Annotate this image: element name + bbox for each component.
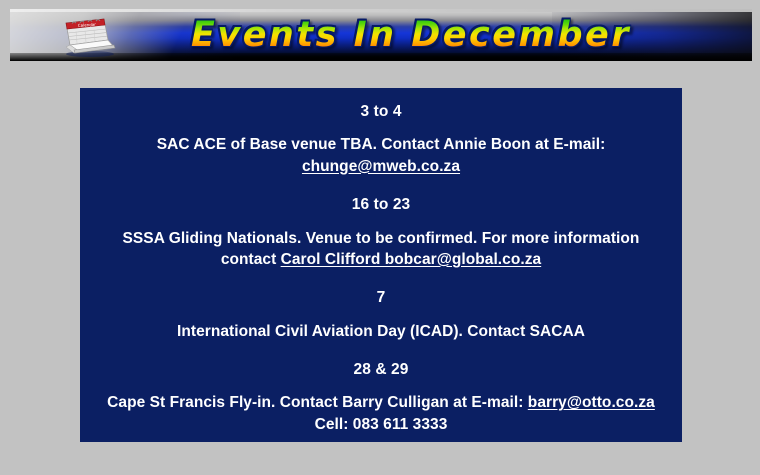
email-link-chunge[interactable]: chunge@mweb.co.za: [302, 158, 460, 175]
event-text: Cape St Francis Fly-in. Contact Barry Cu…: [107, 394, 528, 411]
event-date: 16 to 23: [98, 195, 664, 214]
events-panel: 3 to 4 SAC ACE of Base venue TBA. Contac…: [80, 88, 682, 442]
banner-background: Calendar: [10, 9, 752, 61]
event-description: International Civil Aviation Day (ICAD).…: [98, 321, 664, 342]
event-date: 28 & 29: [98, 360, 664, 379]
event-description: Cape St Francis Fly-in. Contact Barry Cu…: [98, 392, 664, 435]
email-link-barry[interactable]: barry@otto.co.za: [528, 394, 655, 411]
banner-top-highlight: [10, 9, 752, 12]
event-date: 3 to 4: [98, 102, 664, 121]
event-item: 16 to 23 SSSA Gliding Nationals. Venue t…: [98, 195, 664, 270]
event-description: SAC ACE of Base venue TBA. Contact Annie…: [98, 134, 664, 177]
event-item: 28 & 29 Cape St Francis Fly-in. Contact …: [98, 360, 664, 435]
event-text: SAC ACE of Base venue TBA. Contact Annie…: [157, 136, 606, 153]
event-item: 3 to 4 SAC ACE of Base venue TBA. Contac…: [98, 102, 664, 177]
event-date: 7: [98, 288, 664, 307]
page-banner: Calendar: [10, 9, 752, 61]
banner-title-text: Events In December: [191, 18, 631, 53]
event-item: 7 International Civil Aviation Day (ICAD…: [98, 288, 664, 342]
event-phone-text: Cell: 083 611 3333: [315, 416, 448, 433]
event-description: SSSA Gliding Nationals. Venue to be conf…: [98, 228, 664, 271]
banner-title: Events In December: [10, 13, 752, 57]
event-text: International Civil Aviation Day (ICAD).…: [177, 323, 585, 340]
email-link-bobcar[interactable]: Carol Clifford bobcar@global.co.za: [281, 251, 542, 268]
